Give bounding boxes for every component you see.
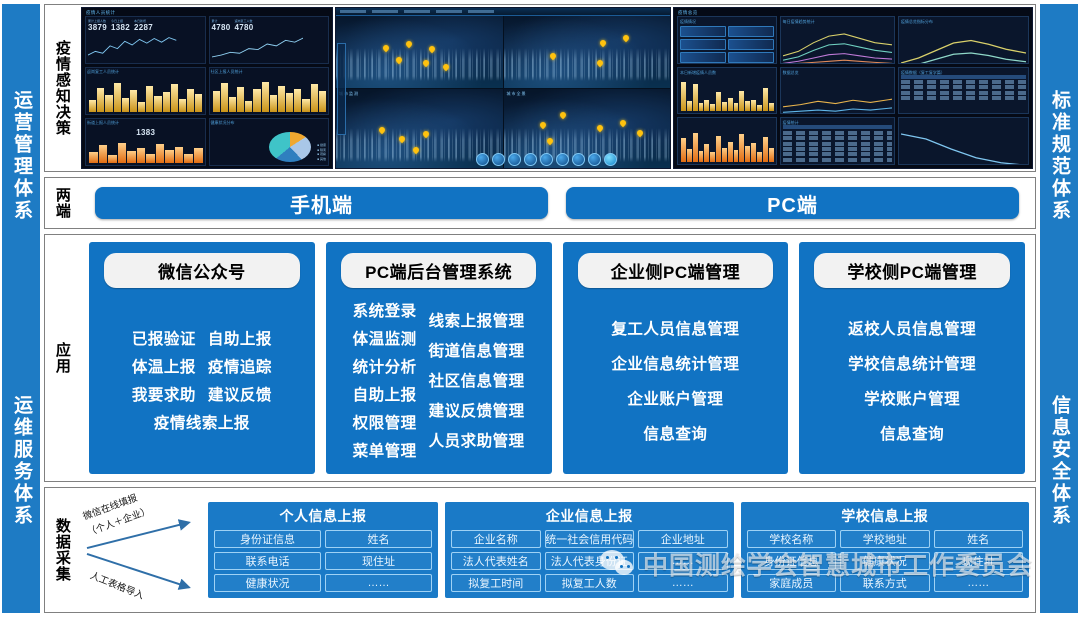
app-item[interactable]: 体温监测 [353,327,417,349]
kpi-value: 3879 [88,23,107,32]
dock-button-active[interactable] [604,153,617,166]
enterprise-info-report-box[interactable]: 企业信息上报 企业名称 统一社会信用代码 企业地址 法人代表姓名 法人代表身份证… [445,502,734,598]
two-ends-band: 两端 手机端 PC端 [44,177,1036,229]
bar-chart-c2 [681,129,774,162]
field-chip[interactable]: 健康状况 [214,574,321,592]
field-chip[interactable]: 拟复工人数 [545,574,635,592]
kpi-value: 4780 [212,23,231,32]
field-chip[interactable]: 姓名 [325,530,432,548]
app-item[interactable]: 已报验证 [132,327,196,349]
app-item[interactable]: 社区信息管理 [429,369,525,391]
daily-trend-panel: 每日疫情趋势统计 [780,16,895,64]
app-item[interactable]: 复工人员信息管理 [611,317,739,339]
pie-legend: ■ 健康■ 隔离■ 观察■ 其他 [317,143,326,161]
field-chip[interactable]: 身份证信息 [747,552,837,570]
field-chip[interactable]: 企业地址 [638,530,728,548]
map-label-4: 城市全景 [507,91,527,97]
personal-info-report-box[interactable]: 个人信息上报 身份证信息 姓名 联系电话 现住址 健康状况 …… [208,502,438,598]
data-table [783,125,892,162]
epidemic-situation-panel: 疫情情况 [677,16,777,64]
map-view-2[interactable]: 城市态势 [504,8,671,88]
app-item[interactable]: 系统登录 [353,299,417,321]
kpi-verified: 1383 [136,128,155,137]
kpi-today-new: 本日新增 2287 [134,19,153,32]
application-band: 应用 微信公众号 已报验证 体温上报 我要求助 [44,234,1036,482]
bar-chart-a2 [213,79,327,112]
kpi-today-reported: 今日上报 1382 [111,19,130,32]
dock-button[interactable] [476,153,489,166]
work-resumption-panel: 疫情数据（复工复学篇） [898,67,1029,115]
stat-bar [680,52,726,63]
multi-line-chart [783,23,892,64]
field-chip[interactable]: 联系电话 [214,552,321,570]
field-chip[interactable]: 法人代表身份证 [545,552,635,570]
app-item[interactable]: 自助上报 [353,383,417,405]
map-toolbar[interactable] [336,8,670,16]
distribution-line-chart [901,23,1026,64]
field-chip[interactable]: 法人代表姓名 [451,552,541,570]
field-chip[interactable]: …… [638,574,728,592]
dashboard-a-metric-cell: 街道上报人员统计 1383 [85,118,206,166]
bar-chart-a [89,79,203,112]
app-item[interactable]: 建议反馈管理 [429,399,525,421]
dashboard-c-col-3: 疫情总览指标分布 疫情数据（复工复学篇） [898,16,1029,165]
pc-backend-management-system-title: PC端后台管理系统 [341,253,536,288]
kpi-value: 1383 [136,128,155,137]
new-cases-panel: 数据总览 [780,67,895,115]
epidemic-statistics-table-panel: 疫情统计 [780,117,895,165]
left-rail-item-maintenance: 运维服务体系 [11,395,31,527]
stat-bar [680,39,726,50]
field-chip[interactable]: 拟复工时间 [451,574,541,592]
pc-terminal-button[interactable]: PC端 [566,187,1019,219]
kpi-value: 1382 [111,23,130,32]
stat-bar [728,39,774,50]
map-dock-buttons[interactable] [476,153,617,166]
dock-button[interactable] [492,153,505,166]
perception-band-label: 疫情感知决策 [45,5,79,171]
app-item[interactable]: 街道信息管理 [429,339,525,361]
app-item[interactable]: 疫情追踪 [208,355,272,377]
epidemic-overview-dashboard[interactable]: 疫情总览 疫情情况 [673,7,1033,169]
field-chip[interactable]: 统一社会信用代码 [545,530,635,548]
dock-button[interactable] [572,153,585,166]
health-status-pie-chart [269,132,311,162]
map-side-tab[interactable] [337,43,346,135]
mobile-terminal-button[interactable]: 手机端 [95,187,548,219]
overview-distribution-panel: 疫情总览指标分布 [898,16,1029,64]
trend-line-chart [88,33,180,61]
wechat-official-account-panel[interactable]: 微信公众号 已报验证 体温上报 我要求助 自助上报 疫情追踪 [89,242,315,474]
field-chip[interactable]: 健康状况 [840,552,930,570]
app-item[interactable]: 人员求助管理 [429,429,525,451]
dashboard-a-pie-cell: 健康状况分布 ■ 健康■ 隔离■ 观察■ 其他 [209,118,330,166]
panel-header: 健康状况分布 [211,120,328,126]
dock-button[interactable] [556,153,569,166]
city-3d-map-dashboard[interactable]: 城市概览 城市态势 [335,7,671,169]
dock-button[interactable] [540,153,553,166]
perception-band: 疫情感知决策 疫情人员统计 累计上报人数 3879 [44,4,1036,172]
kpi-value: 4780 [235,23,254,32]
community-bar-panel-2 [677,117,777,165]
app-item[interactable]: 信息查询 [880,422,944,444]
left-rail: 运营管理体系 运维服务体系 [2,4,40,613]
field-chip[interactable]: 联系方式 [840,574,930,592]
community-bar-panel: 本日新增疫情人员数 [677,67,777,115]
stat-bar [728,26,774,37]
field-chip[interactable]: 身份证信息 [214,530,321,548]
diagram-root: 运营管理体系 运维服务体系 疫情感知决策 疫情人员统计 累计上报人数 [0,0,1080,617]
bar-chart-a3 [89,141,203,163]
panel-header: 社区上报人员统计 [211,69,328,75]
app-item[interactable]: 体温上报 [132,355,196,377]
app-item[interactable]: 企业信息统计管理 [611,352,739,374]
app-item[interactable]: 权限管理 [353,411,417,433]
right-rail: 标准规范体系 信息安全体系 [1040,4,1078,613]
field-chip[interactable]: …… [638,552,728,570]
bar-chart-c1 [681,78,774,111]
app-item[interactable]: 学校信息统计管理 [848,352,976,374]
dashboard-a-bar-cell: 返岗复工人员统计 [85,67,206,115]
data-collection-band: 数据采集 微信在线填报 [44,487,1036,613]
app-item[interactable]: 学校账户管理 [864,387,960,409]
overview-curve-chart [901,124,1026,165]
personal-info-report-title: 个人信息上报 [214,506,432,526]
panel-header: 返岗复工人员统计 [87,69,204,75]
app-item[interactable]: 企业账户管理 [627,387,723,409]
dock-button[interactable] [588,153,601,166]
application-band-label: 应用 [45,235,79,481]
field-chip[interactable]: 姓名 [934,530,1024,548]
collection-arrows: 微信在线填报 （个人＋企业） 人工表格导入 [81,493,201,607]
dashboard-a-bar-cell-2: 社区上报人员统计 [209,67,330,115]
panel-header: 本日新增疫情人员数 [680,70,774,76]
app-item-footer[interactable]: 疫情线索上报 [154,411,250,433]
panel-header: 疫情情况 [680,19,774,25]
app-item[interactable]: 建议反馈 [208,383,272,405]
area-line-chart [783,74,892,115]
wechat-official-account-title: 微信公众号 [104,253,299,288]
field-chip[interactable]: …… [325,574,432,592]
app-item[interactable]: 信息查询 [643,422,707,444]
dashboard-a-kpi-cell-2: 累计 4780 返岗复工人数 4780 [209,16,330,64]
enterprise-pc-management-title: 企业侧PC端管理 [578,253,773,288]
application-band-body: 微信公众号 已报验证 体温上报 我要求助 自助上报 疫情追踪 [79,235,1035,481]
panel-header: 街道上报人员统计 [87,120,204,126]
school-pc-management-title: 学校侧PC端管理 [814,253,1009,288]
center-column: 疫情感知决策 疫情人员统计 累计上报人数 3879 [42,0,1038,617]
enterprise-info-report-title: 企业信息上报 [451,506,728,526]
app-item[interactable]: 返校人员信息管理 [848,317,976,339]
dock-button[interactable] [508,153,521,166]
app-item[interactable]: 我要求助 [132,383,196,405]
right-rail-item-security: 信息安全体系 [1049,395,1069,527]
school-info-report-title: 学校信息上报 [747,506,1024,526]
kpi-cumulative: 累计 4780 [212,19,231,32]
app-item[interactable]: 统计分析 [353,355,417,377]
field-chip[interactable]: 学校地址 [840,530,930,548]
field-chip[interactable]: 家庭成员 [747,574,837,592]
app-item[interactable]: 自助上报 [208,327,272,349]
dock-button[interactable] [524,153,537,166]
field-chip[interactable]: 学校名称 [747,530,837,548]
field-chip[interactable]: …… [934,574,1024,592]
app-item[interactable]: 线索上报管理 [429,309,525,331]
data-collection-band-label: 数据采集 [45,488,79,612]
app-item[interactable]: 菜单管理 [353,439,417,461]
two-ends-band-label: 两端 [45,178,79,228]
data-overview-panel [898,117,1029,165]
school-info-report-box[interactable]: 学校信息上报 学校名称 学校地址 姓名 身份证信息 健康状况 现住址 家庭成员 … [741,502,1030,598]
stat-bar [728,52,774,63]
epidemic-statistics-dashboard[interactable]: 疫情人员统计 累计上报人数 3879 今日上报 [81,7,333,169]
pc-backend-management-system-panel[interactable]: PC端后台管理系统 系统登录 体温监测 统计分析 自助上报 权限管理 菜单管理 [326,242,552,474]
data-collection-band-body: 微信在线填报 （个人＋企业） 人工表格导入 个人信息上报 身份证信息 姓名 联系… [79,488,1035,612]
resumption-rows [901,75,1026,112]
field-chip[interactable]: 现住址 [934,552,1024,570]
left-rail-item-operations: 运营管理体系 [11,90,31,222]
dashboard-c-col-2: 每日疫情趋势统计 数据总览 [780,16,895,165]
stat-bar [680,26,726,37]
kpi-total-reported: 累计上报人数 3879 [88,19,107,32]
dashboard-c-col-1: 疫情情况 本日新增疫情人员数 [677,16,777,165]
school-pc-management-panel[interactable]: 学校侧PC端管理 返校人员信息管理 学校信息统计管理 学校账户管理 信息查询 [799,242,1025,474]
right-rail-item-standards: 标准规范体系 [1049,90,1069,222]
map-view-1[interactable]: 城市概览 [336,8,503,88]
enterprise-pc-management-panel[interactable]: 企业侧PC端管理 复工人员信息管理 企业信息统计管理 企业账户管理 信息查询 [563,242,789,474]
field-chip[interactable]: 企业名称 [451,530,541,548]
kpi-return-work: 返岗复工人数 4780 [235,19,254,32]
dashboard-a-kpi-cell: 累计上报人数 3879 今日上报 1382 本日新增 [85,16,206,64]
field-chip[interactable]: 现住址 [325,552,432,570]
kpi-value: 2287 [134,23,153,32]
perception-band-body: 疫情人员统计 累计上报人数 3879 今日上报 [79,5,1035,171]
two-ends-band-body: 手机端 PC端 [79,178,1035,228]
trend-line-chart-2 [212,33,304,61]
